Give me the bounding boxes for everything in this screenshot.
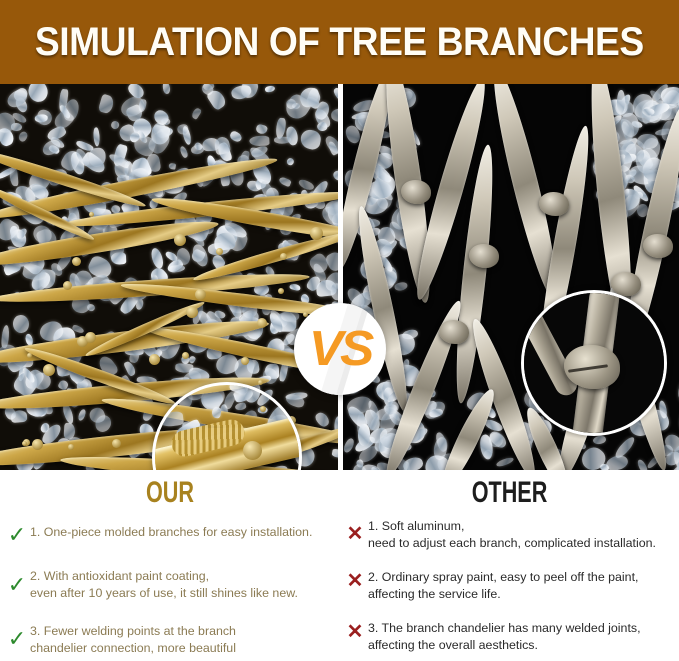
other-row-2-text: 2. Ordinary spray paint, easy to peel of… [368, 569, 638, 603]
photo-divider [338, 84, 343, 470]
column-other: OTHER ✕ 1. Soft aluminum, need to adjust… [340, 470, 679, 661]
photo-other-silver-chandelier [343, 84, 679, 470]
versus-badge: VS [294, 303, 386, 395]
cross-icon: ✕ [342, 524, 368, 544]
our-row-1-text: 1. One-piece molded branches for easy in… [30, 524, 312, 541]
other-row-3-text: 3. The branch chandelier has many welded… [368, 620, 641, 654]
other-row-1: ✕ 1. Soft aluminum, need to adjust each … [340, 518, 679, 552]
our-row-3-text: 3. Fewer welding points at the branch ch… [30, 623, 236, 657]
our-row-1: ✓ 1. One-piece molded branches for easy … [0, 524, 340, 546]
cross-icon: ✕ [342, 622, 368, 642]
loupe-gold-screw-head [243, 441, 262, 460]
header-banner: SIMULATION OF TREE BRANCHES [0, 0, 679, 84]
other-row-1-text: 1. Soft aluminum, need to adjust each br… [368, 518, 656, 552]
other-rows: ✕ 1. Soft aluminum, need to adjust each … [340, 518, 679, 654]
column-our: OUR ✓ 1. One-piece molded branches for e… [0, 470, 340, 661]
cross-icon: ✕ [342, 571, 368, 591]
check-icon: ✓ [4, 628, 30, 650]
detail-circle-welded-aluminum-joint [521, 290, 667, 436]
detail-circle-smooth-gold-joint [152, 382, 302, 470]
other-row-2: ✕ 2. Ordinary spray paint, easy to peel … [340, 569, 679, 603]
our-row-2-text: 2. With antioxidant paint coating, even … [30, 568, 298, 602]
photo-comparison-strip: VS [0, 84, 679, 470]
page-title: SIMULATION OF TREE BRANCHES [35, 20, 644, 65]
our-row-2: ✓ 2. With antioxidant paint coating, eve… [0, 568, 340, 602]
check-icon: ✓ [4, 524, 30, 546]
check-icon: ✓ [4, 574, 30, 596]
other-heading: OTHER [387, 470, 631, 510]
our-heading: OUR [48, 470, 293, 510]
versus-label: VS [294, 303, 386, 395]
photo-our-gold-chandelier [0, 84, 338, 470]
our-rows: ✓ 1. One-piece molded branches for easy … [0, 524, 340, 657]
comparison-table: OUR ✓ 1. One-piece molded branches for e… [0, 470, 679, 661]
our-row-3: ✓ 3. Fewer welding points at the branch … [0, 623, 340, 657]
other-row-3: ✕ 3. The branch chandelier has many weld… [340, 620, 679, 654]
comparison-infographic: SIMULATION OF TREE BRANCHES [0, 0, 679, 661]
